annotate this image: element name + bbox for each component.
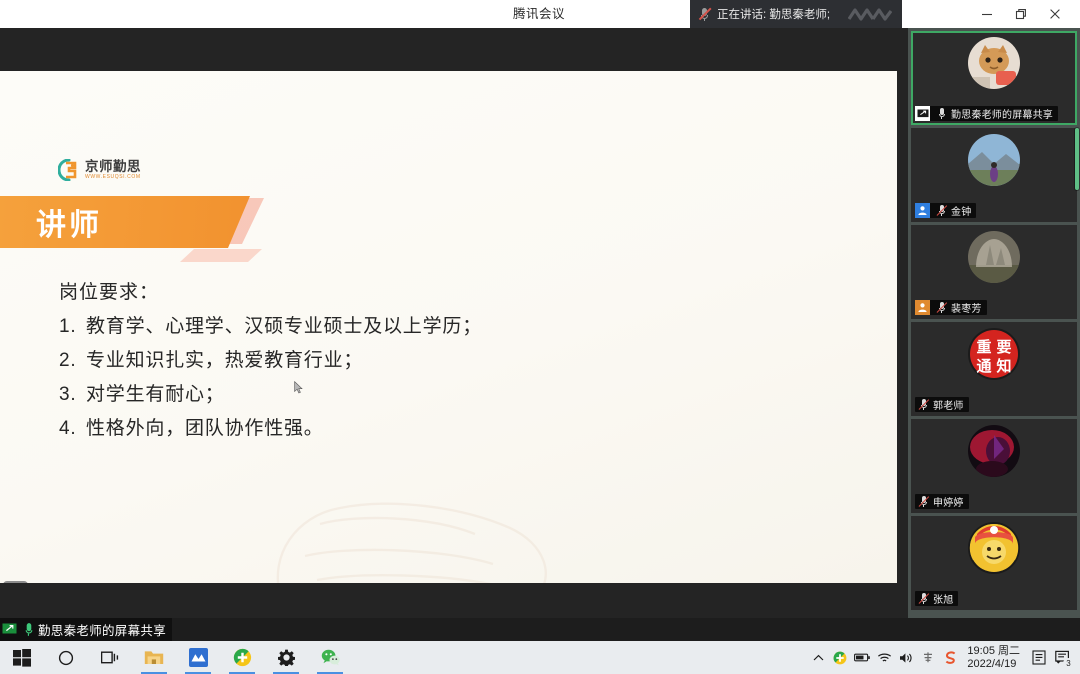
chevron-up-icon	[813, 654, 824, 662]
person-badge-icon	[915, 300, 930, 315]
participant-tile[interactable]: 勤思秦老师的屏幕共享	[911, 31, 1077, 125]
slide-watermark	[225, 476, 585, 583]
cortana-search-icon	[58, 650, 74, 666]
ime-button[interactable]	[917, 641, 939, 674]
screen-share-status-inner: 勤思秦老师的屏幕共享	[0, 618, 172, 641]
requirements-heading: 岗位要求：	[59, 276, 699, 310]
participant-tile[interactable]: 金钟	[911, 128, 1077, 222]
mouse-cursor	[294, 381, 303, 394]
screen-share-icon	[915, 106, 930, 121]
task-view-button[interactable]	[88, 641, 132, 674]
settings-gear-icon	[278, 649, 295, 666]
windows-start-icon	[13, 649, 31, 667]
brand-url: WWW.ESUQSI.COM	[85, 175, 141, 180]
list-item-number: 4.	[59, 412, 76, 446]
battery-button[interactable]	[851, 641, 873, 674]
participant-label: 申婷婷	[915, 494, 969, 509]
participant-label: 裴枣芳	[915, 300, 987, 315]
participant-name: 申婷婷	[933, 494, 964, 509]
participant-name: 张旭	[933, 591, 953, 606]
ime-icon	[921, 651, 935, 664]
meeting-wave-logo-icon	[848, 7, 892, 21]
brand-name: 京师勤思	[85, 160, 141, 174]
slide-list-toggle-button[interactable]	[3, 581, 28, 583]
brand-mark-icon	[58, 159, 80, 181]
wps-app-button[interactable]	[176, 641, 220, 674]
svg-text:知: 知	[996, 357, 1011, 375]
participant-tile[interactable]: 裴枣芳	[911, 225, 1077, 319]
wps-app-icon	[189, 648, 208, 667]
participant-name: 郭老师	[933, 397, 964, 412]
list-item-text: 教育学、心理学、汉硕专业硕士及以上学历；	[86, 310, 482, 344]
participant-tile[interactable]: 申婷婷	[911, 419, 1077, 513]
clock-date: 2022/4/19	[967, 658, 1020, 671]
participants-scrollbar[interactable]	[1074, 28, 1080, 618]
participant-name: 裴枣芳	[951, 300, 982, 315]
title-bar-left: 腾讯会议	[0, 0, 690, 28]
restore-button[interactable]	[1004, 0, 1038, 28]
settings-button[interactable]	[264, 641, 308, 674]
file-explorer-icon	[144, 649, 164, 666]
app-title: 腾讯会议	[513, 0, 565, 28]
minimize-button[interactable]	[970, 0, 1004, 28]
list-item-text: 性格外向，团队协作性强。	[86, 412, 324, 446]
volume-button[interactable]	[895, 641, 917, 674]
avatar	[968, 425, 1020, 477]
screen-share-status-text: 勤思秦老师的屏幕共享	[38, 620, 166, 639]
security-tray-button[interactable]	[829, 641, 851, 674]
banner-echo-shape-2	[180, 249, 262, 262]
security-app-button[interactable]	[220, 641, 264, 674]
volume-icon	[899, 652, 913, 664]
participant-label: 勤思秦老师的屏幕共享	[915, 106, 1058, 121]
svg-text:要: 要	[996, 338, 1011, 356]
slide-body: 岗位要求： 1. 教育学、心理学、汉硕专业硕士及以上学历； 2. 专业知识扎实，…	[59, 276, 699, 446]
list-item-number: 2.	[59, 344, 76, 378]
scrollbar-thumb[interactable]	[1075, 128, 1079, 190]
tencent-meeting-window: 腾讯会议 正在讲话: 勤思秦老师;	[0, 0, 1080, 674]
shield-icon	[833, 651, 847, 665]
start-button[interactable]	[0, 641, 44, 674]
slide-title: 讲师	[36, 200, 102, 244]
network-button[interactable]	[873, 641, 895, 674]
list-item-number: 1.	[59, 310, 76, 344]
brand-logo: 京师勤思 WWW.ESUQSI.COM	[58, 159, 141, 181]
sogou-icon	[943, 650, 958, 665]
list-item: 2. 专业知识扎实，热爱教育行业；	[59, 344, 699, 378]
speaking-indicator: 正在讲话: 勤思秦老师;	[690, 0, 902, 28]
speaking-label: 正在讲话: 勤思秦老师;	[717, 6, 830, 22]
participant-label: 金钟	[915, 203, 976, 218]
system-tray: 19:05 周二 2022/4/19 3	[807, 641, 1080, 674]
list-item-text: 对学生有耐心；	[86, 378, 225, 412]
battery-icon	[854, 652, 871, 663]
participant-label: 郭老师	[915, 397, 969, 412]
screen-share-icon	[2, 623, 17, 636]
sogou-ime-button[interactable]	[939, 641, 961, 674]
microphone-on-icon	[22, 622, 36, 637]
presentation-slide: 京师勤思 WWW.ESUQSI.COM 讲师 岗位要求： 1. 教育学、心理学、…	[0, 71, 897, 583]
svg-text:重: 重	[976, 338, 991, 356]
list-item: 3. 对学生有耐心；	[59, 378, 699, 412]
wechat-icon	[321, 649, 340, 666]
clock[interactable]: 19:05 周二 2022/4/19	[961, 641, 1028, 674]
list-item-number: 3.	[59, 378, 76, 412]
participants-panel[interactable]: 勤思秦老师的屏幕共享 金钟	[908, 28, 1080, 618]
slide-title-banner: 讲师	[0, 196, 250, 248]
participant-name: 勤思秦老师的屏幕共享	[951, 106, 1053, 121]
list-item-text: 专业知识扎实，热爱教育行业；	[86, 344, 363, 378]
wifi-icon	[877, 652, 892, 664]
avatar	[968, 134, 1020, 186]
microphone-muted-icon	[936, 204, 948, 217]
microphone-on-icon	[936, 107, 948, 120]
wechat-button[interactable]	[308, 641, 352, 674]
participant-name: 金钟	[951, 203, 971, 218]
notification-center-button[interactable]: 3	[1050, 641, 1076, 674]
task-view-icon	[101, 650, 119, 665]
security-app-icon	[233, 648, 252, 667]
file-explorer-button[interactable]	[132, 641, 176, 674]
screen-share-status-bar: 勤思秦老师的屏幕共享	[0, 618, 1080, 641]
notes-button[interactable]	[1028, 641, 1050, 674]
title-bar: 腾讯会议 正在讲话: 勤思秦老师;	[0, 0, 1080, 28]
list-item: 4. 性格外向，团队协作性强。	[59, 412, 699, 446]
microphone-muted-icon	[936, 301, 948, 314]
close-button[interactable]	[1038, 0, 1072, 28]
microphone-muted-icon	[918, 495, 930, 508]
window-controls	[902, 0, 1080, 28]
avatar	[968, 231, 1020, 283]
microphone-muted-icon	[698, 7, 711, 22]
show-hidden-icons-button[interactable]	[807, 641, 829, 674]
avatar	[968, 37, 1020, 89]
participant-tile[interactable]: 张旭	[911, 516, 1077, 610]
search-button[interactable]	[44, 641, 88, 674]
microphone-muted-icon	[918, 398, 930, 411]
list-item: 1. 教育学、心理学、汉硕专业硕士及以上学历；	[59, 310, 699, 344]
notification-count-badge: 3	[1063, 658, 1074, 669]
windows-taskbar: 19:05 周二 2022/4/19 3	[0, 641, 1080, 674]
participant-label: 张旭	[915, 591, 958, 606]
avatar	[968, 522, 1020, 574]
person-badge-icon	[915, 203, 930, 218]
avatar: 重要 通知	[968, 328, 1020, 380]
taskbar-apps	[0, 641, 352, 674]
svg-text:通: 通	[976, 357, 991, 375]
participant-tile[interactable]: 重要 通知 郭老师	[911, 322, 1077, 416]
clock-time: 19:05 周二	[967, 645, 1020, 658]
microphone-muted-icon	[918, 592, 930, 605]
notes-icon	[1032, 650, 1046, 665]
